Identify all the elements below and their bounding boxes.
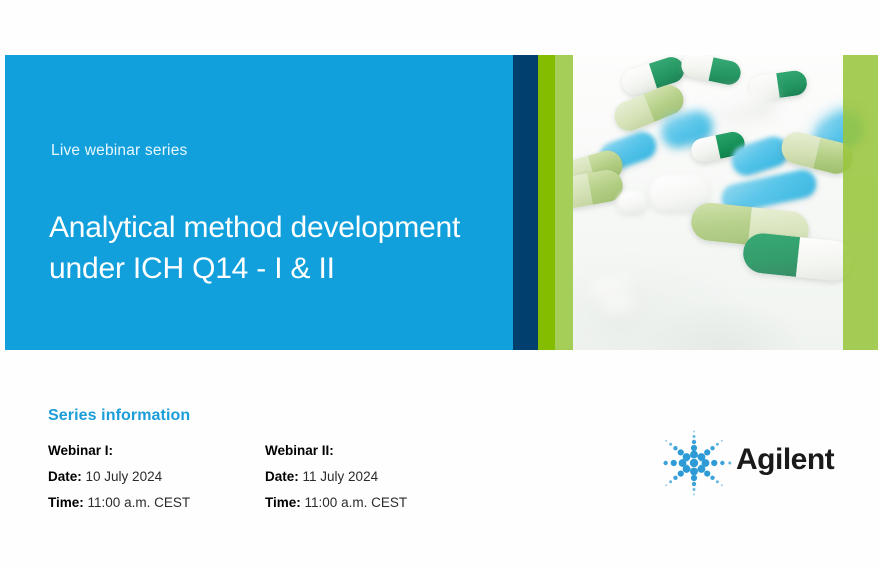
agilent-starburst-icon: [660, 430, 732, 496]
accent-strip-navy: [513, 55, 538, 350]
time-label: Time:: [265, 495, 301, 510]
date-value: 10 July 2024: [86, 469, 163, 484]
agilent-logo: Agilent: [660, 430, 830, 496]
webinar-i-title: Webinar I:: [48, 438, 190, 464]
webinar-ii-title-label: Webinar II:: [265, 443, 334, 458]
hero-eyebrow: Live webinar series: [51, 142, 187, 160]
date-label: Date:: [48, 469, 82, 484]
accent-strip-green: [538, 55, 555, 350]
hero-photo: [573, 55, 878, 350]
hero-title: Analytical method development under ICH …: [49, 207, 519, 289]
webinar-i-title-label: Webinar I:: [48, 443, 113, 458]
accent-strip-overlay-green: [843, 55, 878, 350]
webinar-i-column: Webinar I: Date: 10 July 2024 Time: 11:0…: [48, 438, 190, 516]
date-label: Date:: [265, 469, 299, 484]
webinar-ii-date-row: Date: 11 July 2024: [265, 464, 407, 490]
pill-tablet: [617, 191, 647, 213]
webinar-ii-title: Webinar II:: [265, 438, 407, 464]
webinar-ii-time-row: Time: 11:00 a.m. CEST: [265, 490, 407, 516]
pill-tablet: [603, 295, 637, 317]
webinar-promo-page: Live webinar series Analytical method de…: [0, 0, 878, 570]
accent-strip-light-green: [555, 55, 573, 350]
time-value: 11:00 a.m. CEST: [88, 495, 191, 510]
time-label: Time:: [48, 495, 84, 510]
webinar-i-date-row: Date: 10 July 2024: [48, 464, 190, 490]
hero-banner: Live webinar series Analytical method de…: [5, 55, 878, 350]
time-value: 11:00 a.m. CEST: [305, 495, 408, 510]
series-information-heading: Series information: [48, 407, 190, 425]
date-value: 11 July 2024: [303, 469, 379, 484]
agilent-wordmark: Agilent: [736, 443, 834, 477]
hero-blue-panel: [5, 55, 513, 350]
webinar-i-time-row: Time: 11:00 a.m. CEST: [48, 490, 190, 516]
webinar-ii-column: Webinar II: Date: 11 July 2024 Time: 11:…: [265, 438, 407, 516]
